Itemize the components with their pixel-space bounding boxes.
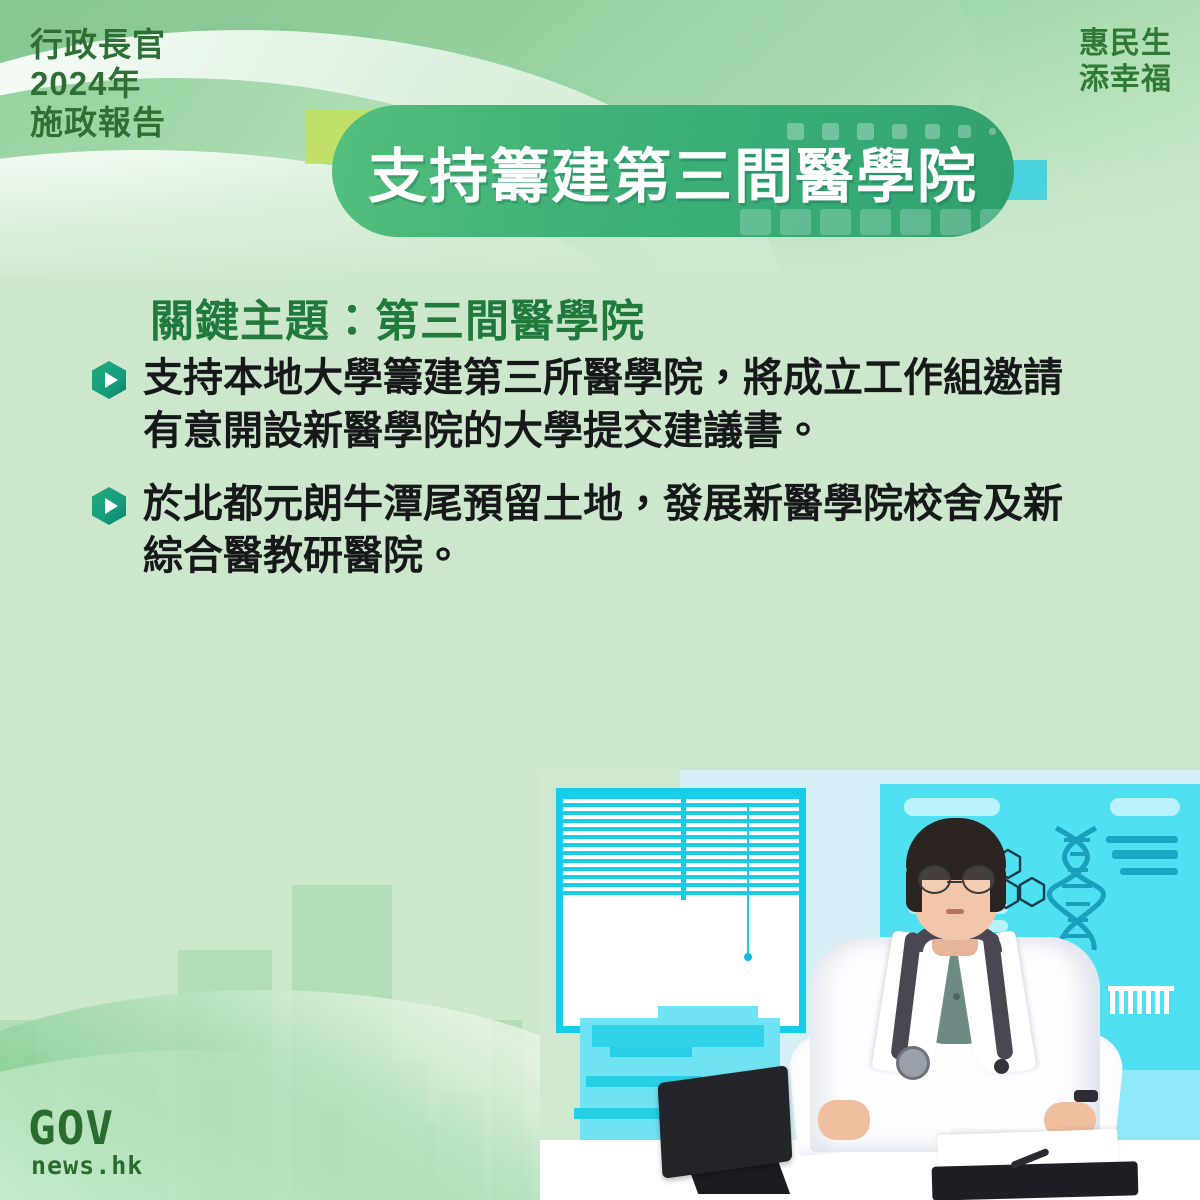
doctor-mouth [946,909,964,914]
clipboard [932,1161,1139,1200]
brand-line-3: 施政報告 [30,104,166,143]
brand-line-2: 2024年 [30,65,166,104]
brand-line-1: 行政長官 [30,26,166,65]
key-theme-heading: 關鍵主題：第三間醫學院 [150,285,645,349]
govhk-logo[interactable]: GOV news.hk [28,1107,143,1180]
cabinet-handle-3 [574,1108,670,1119]
play-hexagon-icon [90,360,128,400]
doctor-figure [790,792,1120,1152]
infographic-poster: 行政長官 2024年 施政報告 惠民生 添幸福 支持籌建第三間醫學院 關鍵主題：… [0,0,1200,1200]
book-stack-bottom [592,1025,764,1047]
bullet-list: 支持本地大學籌建第三所醫學院，將成立工作組邀請有意開設新醫學院的大學提交建議書。… [90,352,1100,603]
shirt-button [953,993,960,1000]
list-item: 支持本地大學籌建第三所醫學院，將成立工作組邀請有意開設新醫學院的大學提交建議書。 [90,352,1100,458]
glasses-bridge [947,881,962,884]
logo-primary-text: GOV [28,1107,143,1151]
eyebrow-left [921,860,943,864]
slogan-line-1: 惠民生 [1079,26,1172,62]
play-hexagon-icon [90,486,128,526]
stethoscope-chestpiece [896,1046,930,1080]
page-title: 支持籌建第三間醫學院 [332,105,1014,237]
list-item: 於北都元朗牛潭尾預留土地，發展新醫學院校舍及新綜合醫教研醫院。 [90,478,1100,584]
window-divider [681,795,686,900]
panel-label-4 [1112,850,1178,859]
list-item-text: 於北都元朗牛潭尾預留土地，發展新醫學院校舍及新綜合醫教研醫院。 [143,478,1100,584]
list-item-text: 支持本地大學籌建第三所醫學院，將成立工作組邀請有意開設新醫學院的大學提交建議書。 [143,352,1100,458]
eyebrow-right [970,860,992,864]
glasses-lens-right [962,865,995,894]
doctor-scene-illustration [540,770,1200,1200]
tablet-device [658,1065,793,1179]
doctor-hand-left [818,1100,870,1140]
title-pill: 支持籌建第三間醫學院 [332,105,1014,237]
cabinet-handle-1 [610,1046,692,1057]
blind-cord [747,805,749,955]
stethoscope-earpiece [994,1059,1009,1074]
window-with-blinds [556,788,806,1033]
title-banner: 支持籌建第三間醫學院 [0,96,1200,256]
slogan-line-2: 添幸福 [1079,62,1172,98]
panel-label-5 [1120,868,1178,875]
slogan-label: 惠民生 添幸福 [1079,26,1172,98]
brand-label: 行政長官 2024年 施政報告 [30,26,166,143]
panel-label-2 [1110,798,1180,816]
wrist-watch [1074,1090,1098,1102]
glasses-lens-left [918,865,951,894]
logo-secondary-text: news.hk [31,1151,143,1180]
